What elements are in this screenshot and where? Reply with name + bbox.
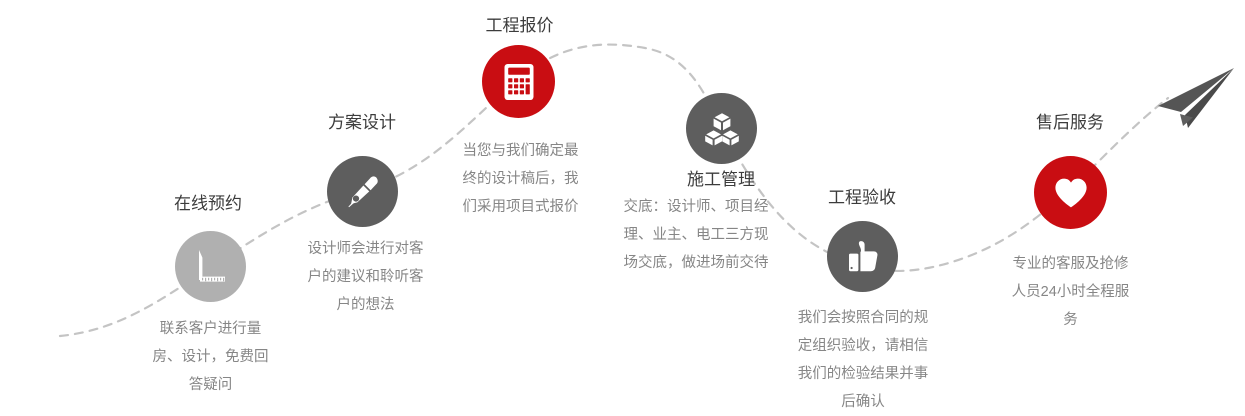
step-desc-1: 联系客户进行量 房、设计，免费回 答疑问 xyxy=(133,315,288,399)
desc-line: 们采用项目式报价 xyxy=(443,193,598,221)
step-icon-circle-6[interactable] xyxy=(1034,156,1107,229)
desc-line: 房、设计，免费回 xyxy=(133,343,288,371)
step-icon-circle-3[interactable] xyxy=(482,45,555,118)
desc-line: 我们会按照合同的规 xyxy=(770,304,956,332)
set-square-ruler-icon xyxy=(191,247,231,287)
step-title-2: 方案设计 xyxy=(292,113,432,133)
step-title-4: 施工管理 xyxy=(651,170,791,190)
desc-line: 终的设计稿后，我 xyxy=(443,165,598,193)
step-icon-circle-5[interactable] xyxy=(827,221,898,292)
desc-line: 答疑问 xyxy=(133,371,288,399)
heart-icon xyxy=(1050,172,1092,214)
step-desc-6: 专业的客服及抢修 人员24小时全程服 务 xyxy=(993,250,1148,334)
desc-line: 理、业主、电工三方现 xyxy=(603,221,789,249)
step-icon-circle-2[interactable] xyxy=(327,156,398,227)
desc-line: 联系客户进行量 xyxy=(133,315,288,343)
desc-line: 后确认 xyxy=(770,388,956,416)
desc-line: 人员24小时全程服 xyxy=(993,278,1148,306)
calculator-icon xyxy=(498,61,540,103)
stacked-cubes-icon xyxy=(702,109,742,149)
desc-line: 务 xyxy=(993,306,1148,334)
paper-plane-icon xyxy=(1148,62,1240,145)
step-title-1: 在线预约 xyxy=(138,194,278,214)
step-icon-circle-4[interactable] xyxy=(686,93,757,164)
step-title-5: 工程验收 xyxy=(792,188,932,208)
desc-line: 户的建议和聆听客 xyxy=(288,263,443,291)
desc-line: 交底：设计师、项目经 xyxy=(603,193,789,221)
step-icon-circle-1[interactable] xyxy=(175,231,246,302)
process-flow-diagram: 在线预约 xyxy=(0,0,1245,402)
desc-line: 当您与我们确定最 xyxy=(443,137,598,165)
desc-line: 设计师会进行对客 xyxy=(288,235,443,263)
step-title-3: 工程报价 xyxy=(447,16,592,36)
desc-line: 定组织验收，请相信 xyxy=(770,332,956,360)
fountain-pen-icon xyxy=(343,172,383,212)
desc-line: 场交底，做进场前交待 xyxy=(603,249,789,277)
desc-line: 户的想法 xyxy=(288,291,443,319)
desc-line: 专业的客服及抢修 xyxy=(993,250,1148,278)
thumbs-up-icon xyxy=(843,237,883,277)
step-desc-2: 设计师会进行对客 户的建议和聆听客 户的想法 xyxy=(288,235,443,319)
step-title-6: 售后服务 xyxy=(1000,113,1140,133)
step-desc-4: 交底：设计师、项目经 理、业主、电工三方现 场交底，做进场前交待 xyxy=(603,193,789,277)
step-desc-3: 当您与我们确定最 终的设计稿后，我 们采用项目式报价 xyxy=(443,137,598,221)
desc-line: 我们的检验结果并事 xyxy=(770,360,956,388)
step-desc-5: 我们会按照合同的规 定组织验收，请相信 我们的检验结果并事 后确认 xyxy=(770,304,956,416)
